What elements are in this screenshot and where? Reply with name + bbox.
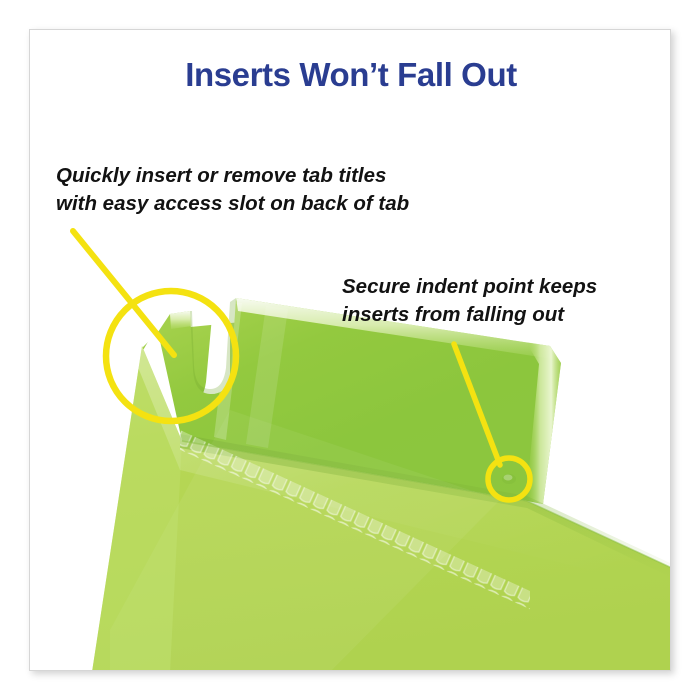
annotation-access-slot-line-1: Quickly insert or remove tab titles [56, 162, 409, 190]
divider-illustration [30, 30, 671, 671]
annotation-indent-point-line-1: Secure indent point keeps [342, 273, 597, 301]
annotation-access-slot: Quickly insert or remove tab titles with… [56, 162, 409, 218]
annotation-access-slot-line-2: with easy access slot on back of tab [56, 190, 409, 218]
annotation-indent-point: Secure indent point keeps inserts from f… [342, 273, 597, 329]
divider-photograph [30, 30, 671, 671]
product-figure: Inserts Won’t Fall Out Quickly insert or… [0, 0, 700, 700]
annotation-indent-point-line-2: inserts from falling out [342, 301, 597, 329]
product-photo-card: Inserts Won’t Fall Out Quickly insert or… [29, 29, 671, 671]
page-title: Inserts Won’t Fall Out [30, 56, 671, 94]
